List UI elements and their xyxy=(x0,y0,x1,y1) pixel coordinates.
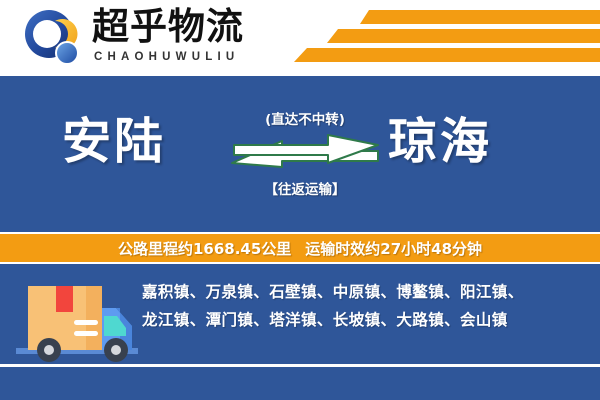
stripe-3 xyxy=(294,48,600,62)
delivery-truck-icon xyxy=(16,278,138,368)
towns-line-1: 嘉积镇、万泉镇、石壁镇、中原镇、博鳌镇、阳江镇、 xyxy=(142,278,592,306)
footer-divider xyxy=(0,364,600,367)
bidirectional-arrow-icon xyxy=(230,133,380,173)
towns-line-2: 龙江镇、潭门镇、塔洋镇、长坡镇、大路镇、会山镇 xyxy=(142,306,592,334)
coverage-section: 嘉积镇、万泉镇、石壁镇、中原镇、博鳌镇、阳江镇、 龙江镇、潭门镇、塔洋镇、长坡镇… xyxy=(0,264,600,400)
distance-text: 公路里程约1668.45公里 xyxy=(118,238,291,259)
origin-city: 安陆 xyxy=(62,111,166,173)
brand-name-en: CHAOHUWULIU xyxy=(94,51,239,63)
header-stripes-decoration xyxy=(280,8,600,68)
brand-logo: 超乎物流 CHAOHUWULIU xyxy=(22,6,282,70)
stripe-1 xyxy=(360,10,600,24)
round-trip-note: 【往返运输】 xyxy=(230,178,380,198)
route-info-bar: 公路里程约1668.45公里 运输时效约27小时48分钟 xyxy=(0,232,600,264)
stripe-2 xyxy=(327,29,600,43)
direct-shipping-note: (直达不中转) xyxy=(230,108,380,128)
covered-towns-list: 嘉积镇、万泉镇、石壁镇、中原镇、博鳌镇、阳江镇、 龙江镇、潭门镇、塔洋镇、长坡镇… xyxy=(142,278,592,334)
route-section: 安陆 (直达不中转) 【往返运输】 琼海 xyxy=(0,76,600,230)
brand-name-cn: 超乎物流 xyxy=(92,4,244,50)
banner-header: 超乎物流 CHAOHUWULIU xyxy=(0,0,600,74)
route-middle: (直达不中转) 【往返运输】 xyxy=(230,106,380,206)
circular-q-logo-icon xyxy=(22,8,82,68)
destination-city: 琼海 xyxy=(388,111,492,173)
duration-text: 运输时效约27小时48分钟 xyxy=(305,238,482,259)
logistics-route-banner: 超乎物流 CHAOHUWULIU 安陆 (直达不中转) 【往返运输】 琼海 公路… xyxy=(0,0,600,400)
